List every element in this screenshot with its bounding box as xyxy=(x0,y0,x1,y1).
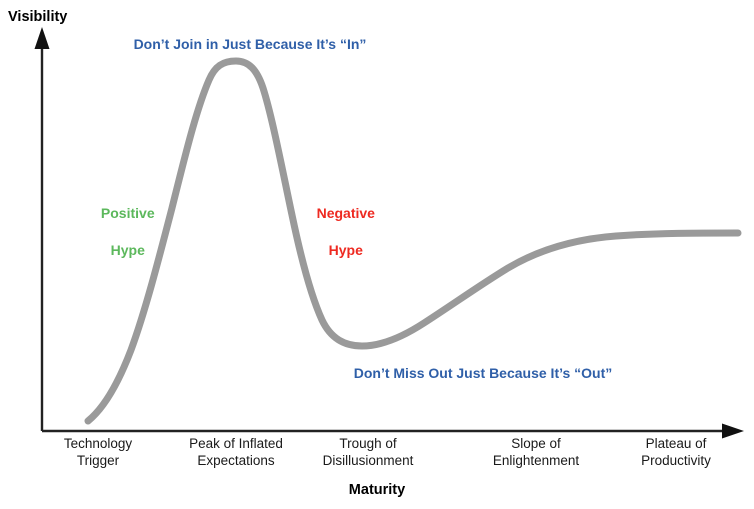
tick-label-line1: Trough of xyxy=(283,436,453,453)
negative-hype-label: Negative Hype xyxy=(278,186,398,277)
x-axis-tick-label: Trough ofDisillusionment xyxy=(283,436,453,469)
negative-hype-line1: Negative xyxy=(317,205,375,221)
positive-hype-label: Positive Hype xyxy=(60,186,180,277)
tick-label-line2: Productivity xyxy=(591,453,754,470)
positive-hype-line1: Positive xyxy=(101,205,155,221)
positive-hype-line2: Hype xyxy=(111,242,145,258)
tick-label-line2: Disillusionment xyxy=(283,453,453,470)
tick-label-line1: Plateau of xyxy=(591,436,754,453)
x-axis-tick-label: Plateau ofProductivity xyxy=(591,436,754,469)
y-axis-title: Visibility xyxy=(8,9,67,26)
annotation-peak-hype: Don’t Join in Just Because It’s “In” xyxy=(0,36,754,53)
annotation-trough-hype: Don’t Miss Out Just Because It’s “Out” xyxy=(0,365,754,382)
hype-cycle-figure: Visibility Don’t Join in Just Because It… xyxy=(0,0,754,509)
negative-hype-line2: Hype xyxy=(329,242,363,258)
x-axis-title: Maturity xyxy=(0,482,754,499)
